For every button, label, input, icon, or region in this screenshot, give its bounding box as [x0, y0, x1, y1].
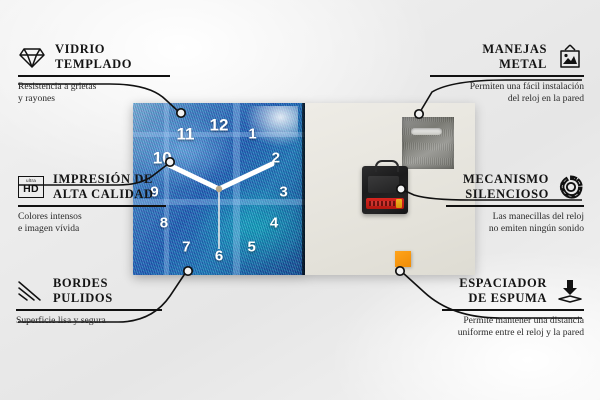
wall-frame-hook-icon [556, 44, 584, 70]
diamond-icon [18, 45, 46, 69]
feature-vidrio-templado: VIDRIO TEMPLADO Resistencia a grietas y … [18, 42, 174, 106]
feature-bordes-pulidos: BORDES PULIDOS Superficie lisa y segura [16, 276, 164, 327]
mechanism-loop [375, 160, 399, 172]
feature-rule [18, 205, 166, 207]
feature-desc: Resistencia a grietas y rayones [18, 81, 174, 107]
feature-title: MECANISMO SILENCIOSO [463, 172, 549, 201]
hour-hand [169, 165, 219, 189]
feature-head: ultra HD IMPRESIÓN DE ALTA CALIDAD [18, 172, 170, 201]
feature-desc: Superficie lisa y segura [16, 315, 164, 328]
hands-hub [216, 186, 222, 192]
quartz-mechanism [362, 166, 408, 214]
feature-rule [16, 309, 162, 311]
feature-rule [430, 75, 584, 77]
feature-title: MANEJAS METAL [482, 42, 547, 71]
feature-rule [442, 309, 584, 311]
feature-head: ESPACIADOR DE ESPUMA [440, 276, 584, 305]
hanger-slot [411, 128, 442, 135]
feature-mecanismo-silencioso: MECANISMO SILENCIOSO Las manecillas del … [444, 172, 584, 236]
polished-edges-icon [16, 279, 44, 303]
arrow-down [563, 280, 577, 295]
minute-hand [219, 164, 272, 189]
metal-hanger-icon [402, 117, 454, 169]
battery-cap [396, 199, 402, 208]
feature-manejas-metal: MANEJAS METAL Permiten una fácil instala… [428, 42, 584, 106]
feature-title: IMPRESIÓN DE ALTA CALIDAD [53, 172, 154, 201]
feature-head: MECANISMO SILENCIOSO [444, 172, 584, 201]
battery-label [369, 201, 395, 206]
gear-icon [558, 174, 584, 200]
feature-title: ESPACIADOR DE ESPUMA [459, 276, 547, 305]
battery [366, 198, 404, 209]
plate [559, 296, 581, 302]
feature-head: BORDES PULIDOS [16, 276, 164, 305]
feature-impresion-alta-calidad: ultra HD IMPRESIÓN DE ALTA CALIDAD Color… [18, 172, 170, 236]
feature-title: BORDES PULIDOS [53, 276, 113, 305]
feature-rule [18, 75, 170, 77]
foam-spacer [395, 251, 411, 267]
feature-espaciador-de-espuma: ESPACIADOR DE ESPUMA Permite mantener un… [440, 276, 584, 340]
feature-title: VIDRIO TEMPLADO [55, 42, 132, 71]
feature-head: MANEJAS METAL [428, 42, 584, 71]
feature-desc: Permite mantener una distancia uniforme … [440, 315, 584, 341]
feature-rule [446, 205, 584, 207]
infographic-canvas: 12 1 2 3 4 5 6 7 8 9 10 11 [0, 0, 600, 400]
feature-desc: Permiten una fácil instalación del reloj… [428, 81, 584, 107]
feature-desc: Las manecillas del reloj no emiten ningú… [444, 211, 584, 237]
ultra-hd-icon: ultra HD [18, 176, 44, 198]
feature-head: VIDRIO TEMPLADO [18, 42, 174, 71]
feature-desc: Colores intensos e imagen vívida [18, 211, 170, 237]
arrow-down-plate-icon [556, 278, 584, 304]
mechanism-plate [368, 176, 399, 193]
ultra-hd-icon-hd: HD [23, 184, 39, 195]
